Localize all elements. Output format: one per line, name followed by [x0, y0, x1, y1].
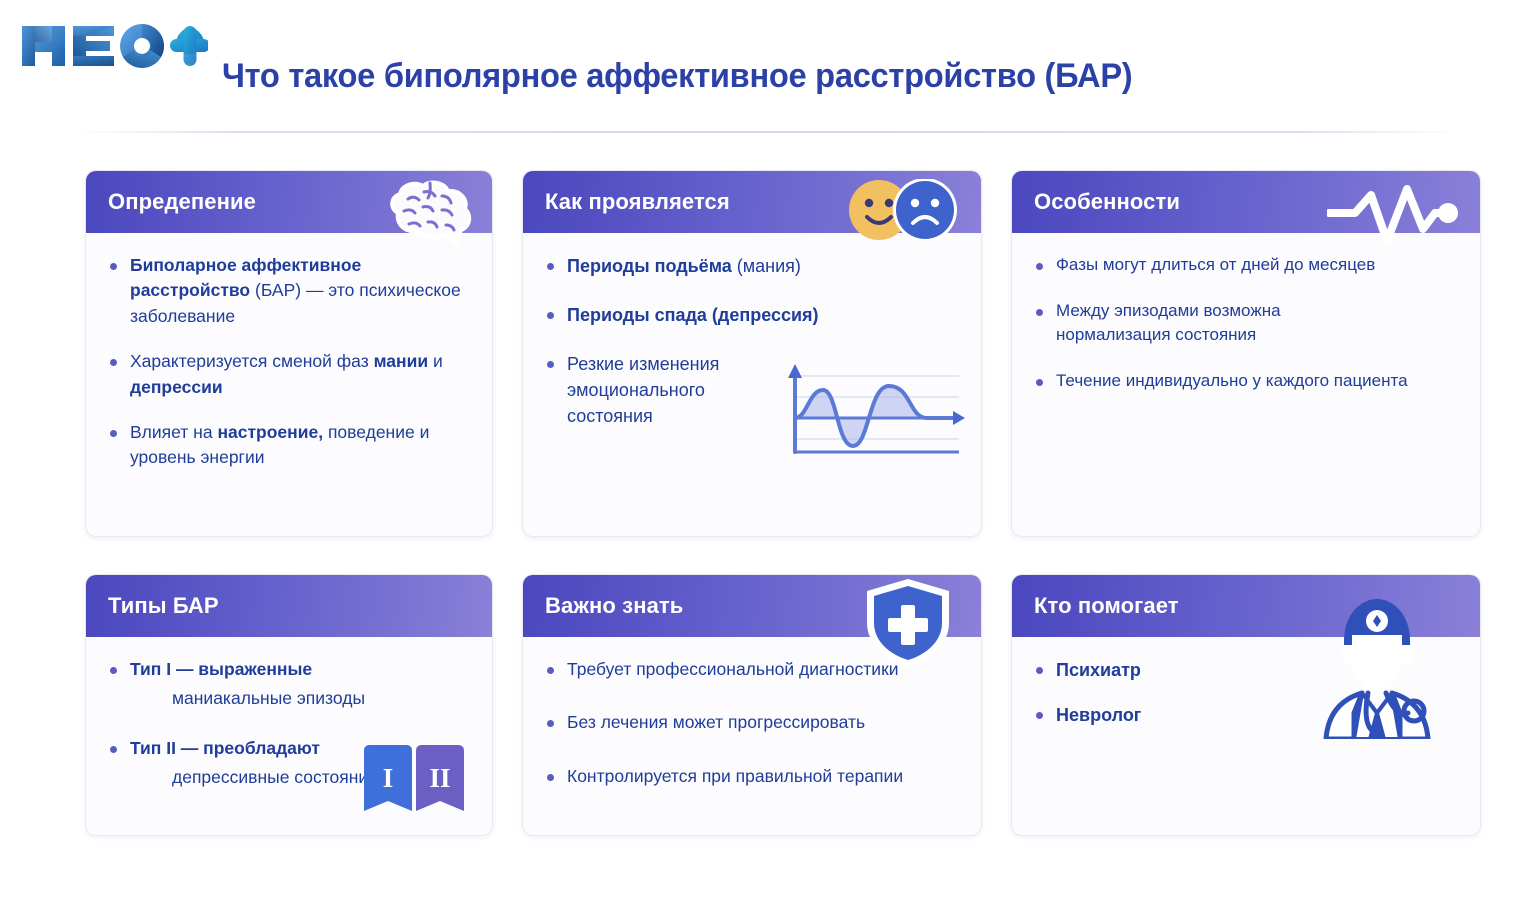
card-important-header: Важно знать: [523, 575, 981, 637]
important-list: Требует профессиональной диагностики Без…: [545, 657, 959, 789]
card-types-title: Типы БАР: [86, 593, 219, 619]
list-item: Фазы могут длиться от дней до месяцев: [1034, 253, 1458, 278]
item-bold-text-2: депрессии: [130, 377, 223, 397]
card-manifestation-title: Как проявляется: [523, 189, 730, 215]
type-badges-icon: I II: [360, 743, 468, 821]
item-regular-lead: Характеризуется сменой фаз: [130, 351, 374, 371]
logo-svg: [18, 16, 208, 74]
neo-plus-logo: [18, 16, 208, 74]
card-important: Важно знать Требует профессиональной диа…: [522, 574, 982, 836]
features-list: Фазы могут длиться от дней до месяцев Ме…: [1034, 253, 1458, 394]
card-manifestation: Как проявляется: [522, 170, 982, 537]
page-header: Что такое биполярное аффективное расстро…: [0, 0, 1536, 130]
card-definition-header: Опредепение: [86, 171, 492, 233]
header-divider: [78, 131, 1456, 133]
card-manifestation-body: Периоды подьёма (мания) Периоды спада (д…: [523, 233, 981, 536]
list-item: Периоды спада (депрессия): [545, 302, 959, 328]
mood-wave-chart-icon: [777, 360, 967, 460]
definition-list: Биполарное аффективное расстройство (БАР…: [108, 253, 470, 471]
list-item: Психиатр: [1034, 657, 1458, 683]
card-who-helps-body: Психиатр Невролог: [1012, 637, 1480, 835]
card-who-helps-header: Кто помогает: [1012, 575, 1480, 637]
list-item: Характеризуется сменой фаз мании и депре…: [108, 349, 470, 400]
item-regular-text: (мания): [732, 256, 801, 276]
list-item: Контролируется при правильной терапии: [545, 764, 959, 789]
card-features-title: Особенности: [1012, 189, 1180, 215]
card-definition: Опредепение: [85, 170, 493, 537]
item-regular-text: Фазы могут длиться от дней до месяцев: [1056, 255, 1375, 274]
item-bold-text: мании: [374, 351, 429, 371]
item-sub-text: маниакальные эпизоды: [130, 686, 470, 711]
card-types: Типы БАР Тип I — выраженные маниакальные…: [85, 574, 493, 836]
card-definition-body: Биполарное аффективное расстройство (БАР…: [86, 233, 492, 536]
item-bold-text: Периоды спада (депрессия): [567, 305, 819, 325]
list-item: Без лечения может прогрессировать: [545, 710, 959, 735]
list-item: Резкие изменения эмоционального состояни…: [545, 351, 780, 429]
item-regular-text: Требует профессиональной диагностики: [567, 659, 899, 679]
infographic-page: Что такое биполярное аффективное расстро…: [0, 0, 1536, 922]
item-regular-mid: и: [428, 351, 443, 371]
card-types-body: Тип I — выраженные маниакальные эпизоды …: [86, 637, 492, 835]
list-item: Тип I — выраженные маниакальные эпизоды: [108, 657, 470, 712]
list-item: Биполарное аффективное расстройство (БАР…: [108, 253, 470, 329]
list-item: Требует профессиональной диагностики: [545, 657, 959, 682]
card-features-body: Фазы могут длиться от дней до месяцев Ме…: [1012, 233, 1480, 536]
item-regular-text: Резкие изменения эмоционального состояни…: [567, 354, 719, 426]
type-ii-label: II: [429, 763, 450, 793]
happy-sad-faces-icon: [841, 179, 961, 241]
card-important-title: Важно знать: [523, 593, 683, 619]
item-bold-text: Периоды подьёма: [567, 256, 732, 276]
who-helps-list: Психиатр Невролог: [1034, 657, 1458, 728]
card-types-header: Типы БАР: [86, 575, 492, 637]
item-bold-text: Невролог: [1056, 705, 1141, 725]
type-i-label: I: [383, 763, 394, 793]
item-bold-text: настроение,: [217, 422, 323, 442]
item-regular-text: Без лечения может прогрессировать: [567, 712, 865, 732]
card-who-helps: Кто помогает Психиатр Невролог: [1011, 574, 1481, 836]
card-manifestation-header: Как проявляется: [523, 171, 981, 233]
item-regular-text: Контролируется при правильной терапии: [567, 766, 903, 786]
list-item: Между эпизодами возможна нормализация со…: [1034, 299, 1334, 348]
cards-grid: Опредепение: [85, 170, 1460, 836]
item-bold-text: Психиатр: [1056, 660, 1141, 680]
item-regular-lead: Влияет на: [130, 422, 217, 442]
item-bold-text: Тип I — выраженные: [130, 659, 312, 679]
list-item: Периоды подьёма (мания): [545, 253, 959, 279]
item-bold-text: Тип II — преобладают: [130, 738, 320, 758]
item-regular-text: Течение индивидуально у каждого пациента: [1056, 371, 1408, 390]
card-features: Особенности Фазы могут длиться от дней д…: [1011, 170, 1481, 537]
item-regular-text: Между эпизодами возможна нормализация со…: [1056, 301, 1281, 345]
card-who-helps-title: Кто помогает: [1012, 593, 1179, 619]
card-definition-title: Опредепение: [86, 189, 256, 215]
list-item: Невролог: [1034, 702, 1458, 728]
page-title: Что такое биполярное аффективное расстро…: [222, 57, 1132, 96]
card-features-header: Особенности: [1012, 171, 1480, 233]
list-item: Течение индивидуально у каждого пациента: [1034, 369, 1458, 394]
card-important-body: Требует профессиональной диагностики Без…: [523, 637, 981, 835]
list-item: Влияет на настроение, поведение и уровен…: [108, 420, 470, 471]
